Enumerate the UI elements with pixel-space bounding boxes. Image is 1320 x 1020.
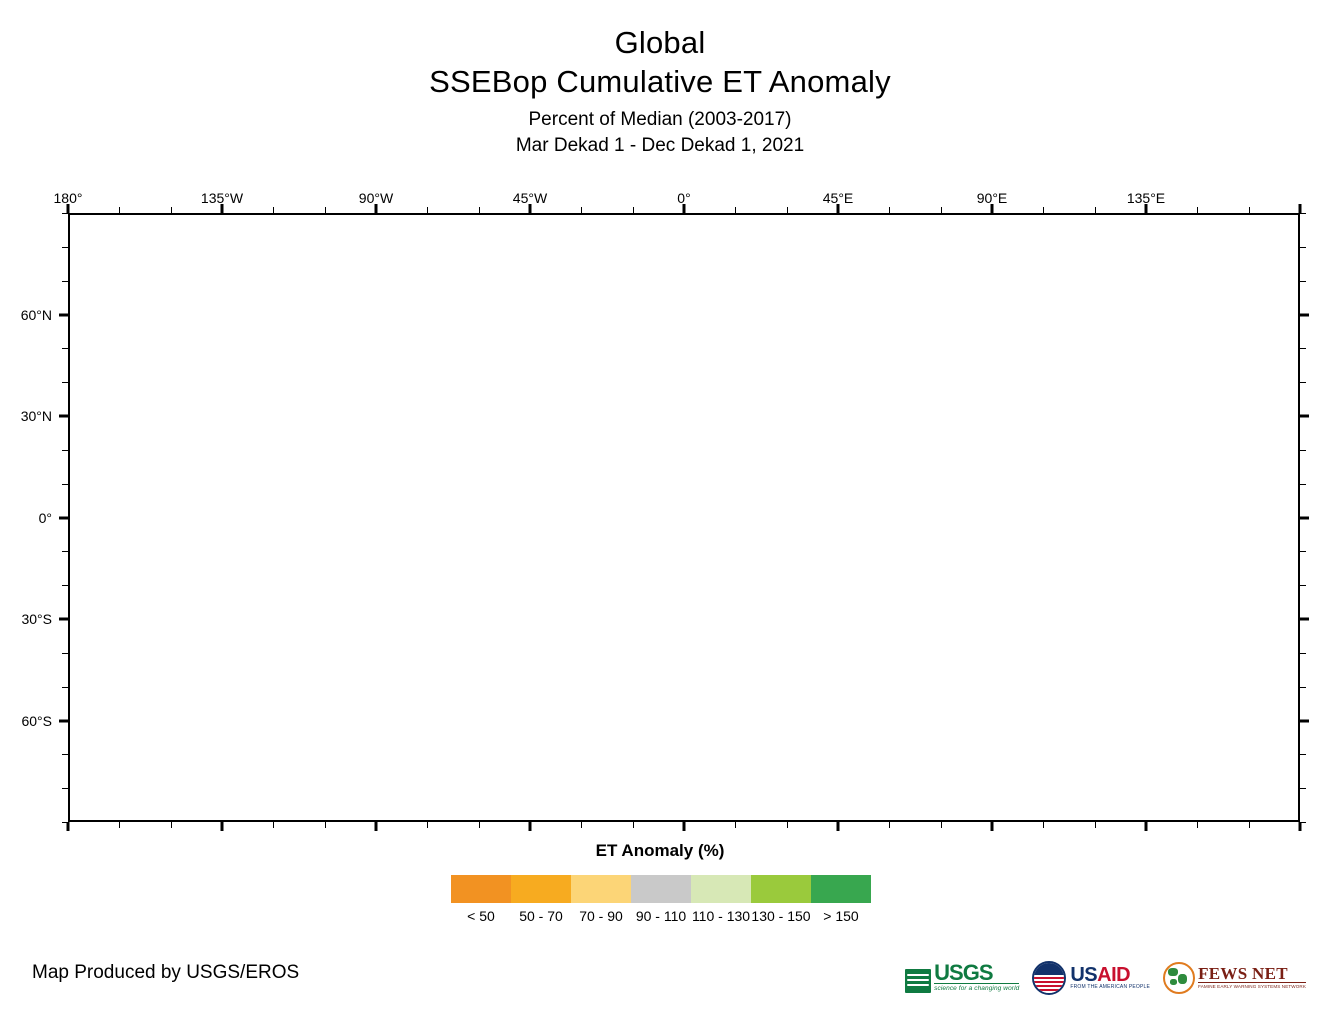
legend-label-6: > 150 <box>811 908 871 930</box>
axis-tick <box>1249 822 1250 828</box>
world-map[interactable] <box>68 213 1300 822</box>
axis-tick <box>62 585 68 586</box>
map-frame-border <box>68 213 1300 822</box>
axis-tick <box>683 822 686 831</box>
axis-tick <box>735 822 736 828</box>
page-title-line1: Global <box>0 24 1320 62</box>
axis-tick <box>529 204 532 213</box>
axis-tick <box>1300 484 1306 485</box>
axis-tick <box>1300 687 1306 688</box>
fews-globe-icon <box>1163 962 1195 994</box>
legend-swatch-3 <box>631 875 691 903</box>
axis-tick <box>787 822 788 828</box>
legend-label-5: 130 - 150 <box>751 908 811 930</box>
axis-tick <box>273 207 274 213</box>
axis-tick <box>1300 213 1306 214</box>
axis-tick <box>1300 348 1306 349</box>
page-subtitle-median: Percent of Median (2003-2017) <box>0 106 1320 133</box>
axis-tick <box>1299 204 1302 213</box>
axis-tick <box>1300 313 1309 316</box>
axis-tick <box>581 207 582 213</box>
axis-tick <box>119 822 120 828</box>
axis-tick <box>1145 822 1148 831</box>
fews-logo[interactable]: FEWS NET FAMINE EARLY WARNING SYSTEMS NE… <box>1163 957 1306 999</box>
axis-tick <box>1043 822 1044 828</box>
axis-tick <box>633 207 634 213</box>
legend-swatch-2 <box>571 875 631 903</box>
axis-tick <box>62 281 68 282</box>
map-page: Global SSEBop Cumulative ET Anomaly Perc… <box>0 0 1320 1020</box>
axis-tick <box>221 204 224 213</box>
axis-tick <box>633 822 634 828</box>
axis-tick <box>735 207 736 213</box>
axis-tick <box>1300 822 1306 823</box>
axis-tick <box>1095 207 1096 213</box>
axis-tick <box>62 348 68 349</box>
legend-label-1: 50 - 70 <box>511 908 571 930</box>
fews-logo-tagline: FAMINE EARLY WARNING SYSTEMS NETWORK <box>1198 982 1306 991</box>
axis-tick <box>67 204 70 213</box>
usgs-logo-tagline: science for a changing world <box>934 983 1019 993</box>
legend-swatch-5 <box>751 875 811 903</box>
legend-label-4: 110 - 130 <box>691 908 751 930</box>
page-title-line2: SSEBop Cumulative ET Anomaly <box>0 62 1320 102</box>
axis-tick <box>375 204 378 213</box>
axis-tick <box>837 204 840 213</box>
legend-label-0: < 50 <box>451 908 511 930</box>
axis-tick <box>581 822 582 828</box>
axis-tick <box>119 207 120 213</box>
axis-tick <box>889 822 890 828</box>
axis-tick <box>941 207 942 213</box>
axis-tick <box>171 207 172 213</box>
axis-tick <box>221 822 224 831</box>
axis-tick <box>67 822 70 831</box>
axis-tick <box>941 822 942 828</box>
axis-tick <box>59 719 68 722</box>
axis-tick <box>171 822 172 828</box>
lat-label: 30°N <box>21 408 52 424</box>
axis-tick <box>1300 754 1306 755</box>
axis-tick <box>991 822 994 831</box>
axis-tick <box>62 484 68 485</box>
axis-tick <box>1249 207 1250 213</box>
axis-tick <box>273 822 274 828</box>
axis-tick <box>62 687 68 688</box>
axis-tick <box>787 207 788 213</box>
axis-tick <box>59 516 68 519</box>
usgs-logo-text: USGS <box>934 963 992 983</box>
logo-strip: USGS science for a changing world USAID … <box>905 955 1306 1001</box>
axis-tick <box>1043 207 1044 213</box>
legend-title: ET Anomaly (%) <box>0 841 1320 861</box>
axis-tick <box>62 788 68 789</box>
axis-tick <box>1300 618 1309 621</box>
legend-color-ramp <box>451 875 871 903</box>
axis-tick <box>837 822 840 831</box>
legend-swatch-0 <box>451 875 511 903</box>
usaid-seal-icon <box>1032 961 1066 995</box>
axis-tick <box>62 754 68 755</box>
usaid-logo-tagline: FROM THE AMERICAN PEOPLE <box>1070 984 1150 991</box>
legend-label-2: 70 - 90 <box>571 908 631 930</box>
legend-class-labels: < 5050 - 7070 - 9090 - 110110 - 130130 -… <box>451 908 871 930</box>
axis-tick <box>427 822 428 828</box>
axis-tick <box>1300 719 1309 722</box>
axis-tick <box>62 450 68 451</box>
axis-tick <box>1300 281 1306 282</box>
lat-label: 30°S <box>21 611 52 627</box>
axis-tick <box>325 822 326 828</box>
page-subtitle-period: Mar Dekad 1 - Dec Dekad 1, 2021 <box>0 133 1320 159</box>
usgs-wave-icon <box>905 969 931 993</box>
axis-tick <box>59 618 68 621</box>
axis-tick <box>62 382 68 383</box>
axis-tick <box>1300 382 1306 383</box>
axis-tick <box>479 822 480 828</box>
axis-tick <box>1300 247 1306 248</box>
axis-tick <box>1300 585 1306 586</box>
usaid-logo[interactable]: USAID FROM THE AMERICAN PEOPLE <box>1032 957 1150 999</box>
axis-tick <box>889 207 890 213</box>
legend-swatch-6 <box>811 875 871 903</box>
axis-tick <box>1300 551 1306 552</box>
axis-tick <box>62 247 68 248</box>
axis-tick <box>1197 822 1198 828</box>
axis-tick <box>991 204 994 213</box>
legend-swatch-1 <box>511 875 571 903</box>
lat-label: 60°N <box>21 307 52 323</box>
axis-tick <box>59 415 68 418</box>
title-block: Global SSEBop Cumulative ET Anomaly Perc… <box>0 24 1320 159</box>
axis-tick <box>683 204 686 213</box>
axis-tick <box>1300 415 1309 418</box>
axis-tick <box>1299 822 1302 831</box>
map-credit: Map Produced by USGS/EROS <box>32 962 299 984</box>
usgs-logo[interactable]: USGS science for a changing world <box>905 957 1019 999</box>
latitude-axis-labels: 60°N30°N0°30°S60°S <box>0 213 62 822</box>
usaid-logo-text: USAID <box>1070 966 1130 984</box>
axis-tick <box>479 207 480 213</box>
fews-logo-text: FEWS NET <box>1198 966 1288 982</box>
axis-tick <box>1300 516 1309 519</box>
axis-tick <box>1300 788 1306 789</box>
legend-swatch-4 <box>691 875 751 903</box>
axis-tick <box>529 822 532 831</box>
axis-tick <box>59 313 68 316</box>
axis-tick <box>1095 822 1096 828</box>
axis-tick <box>1145 204 1148 213</box>
axis-tick <box>62 822 68 823</box>
axis-tick <box>1300 450 1306 451</box>
axis-tick <box>1197 207 1198 213</box>
axis-tick <box>1300 653 1306 654</box>
lat-label: 60°S <box>21 713 52 729</box>
axis-tick <box>62 551 68 552</box>
axis-tick <box>62 653 68 654</box>
legend-label-3: 90 - 110 <box>631 908 691 930</box>
axis-tick <box>427 207 428 213</box>
lat-label: 0° <box>39 510 52 526</box>
axis-tick <box>325 207 326 213</box>
axis-tick <box>62 213 68 214</box>
axis-tick <box>375 822 378 831</box>
